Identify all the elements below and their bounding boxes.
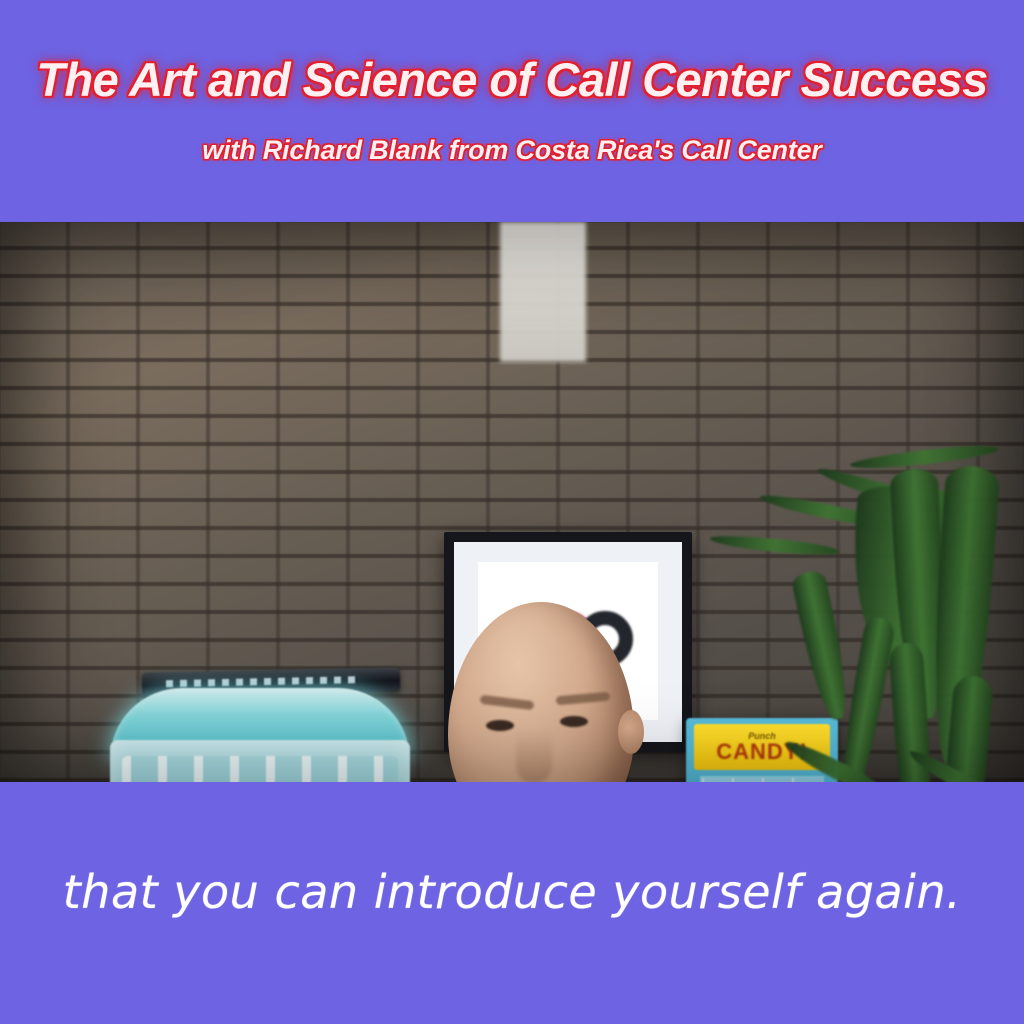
ear bbox=[618, 710, 644, 754]
plant-leaf bbox=[790, 569, 854, 723]
eye-left bbox=[486, 720, 514, 731]
plant-leaf bbox=[782, 735, 896, 782]
eye-right bbox=[560, 716, 588, 727]
page-title: The Art and Science of Call Center Succe… bbox=[0, 52, 1024, 107]
subtitle-caption: that you can introduce yourself again. bbox=[0, 865, 1024, 919]
video-page: The Art and Science of Call Center Succe… bbox=[0, 0, 1024, 1024]
plant-leaf bbox=[709, 532, 840, 559]
wall-light-column bbox=[500, 222, 586, 362]
speaker-person bbox=[330, 602, 730, 782]
potted-palm-plant bbox=[700, 444, 1024, 782]
header-banner: The Art and Science of Call Center Succe… bbox=[0, 0, 1024, 218]
nose bbox=[516, 730, 552, 782]
video-player-frame[interactable]: Punch CANDY! bbox=[0, 222, 1024, 782]
page-subtitle: with Richard Blank from Costa Rica's Cal… bbox=[0, 135, 1024, 166]
